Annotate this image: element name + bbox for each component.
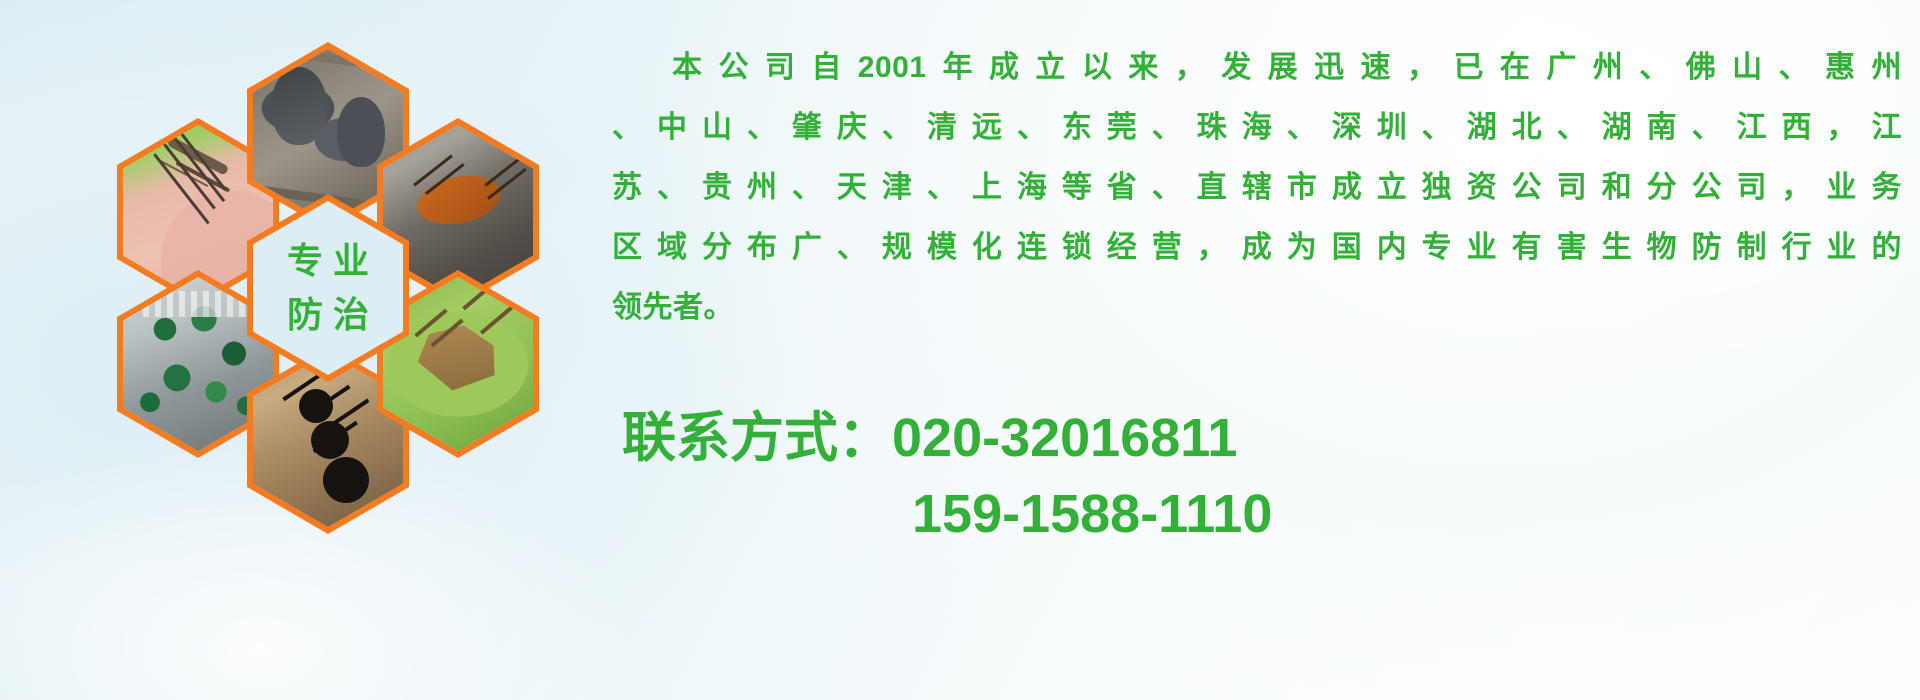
- company-description: 本公司自2001年成立以来，发展迅速，已在广州、佛山、惠州 、中山、肇庆、清远、…: [612, 38, 1902, 338]
- contact-block: 联系方式：020-32016811 159-1588-1110: [622, 400, 1902, 552]
- description-line-5: 领先者。: [612, 278, 1902, 338]
- hex-inner-slogan: 专业 防治: [253, 201, 403, 375]
- slogan-line-2: 防治: [277, 288, 379, 342]
- description-line-3: 苏、贵州、天津、上海等省、直辖市成立独资公司和分公司，业务: [612, 158, 1902, 218]
- description-line-4: 区域分布广、规模化连锁经营，成为国内专业有害生物防制行业的: [612, 218, 1902, 278]
- honeycomb-image-cluster: 专业 防治: [95, 18, 595, 563]
- promo-banner: 专业 防治 本公司自2001年成立以来，发展迅速，已在广州、佛山、惠州 、中山、…: [0, 0, 1920, 700]
- description-line-1: 本公司自2001年成立以来，发展迅速，已在广州、佛山、惠州: [612, 38, 1902, 98]
- contact-phone-secondary[interactable]: 159-1588-1110: [622, 476, 1902, 552]
- description-line-2: 、中山、肇庆、清远、东莞、珠海、深圳、湖北、湖南、江西，江: [612, 98, 1902, 158]
- contact-phone-primary[interactable]: 联系方式：020-32016811: [622, 400, 1902, 476]
- slogan-line-1: 专业: [277, 234, 379, 288]
